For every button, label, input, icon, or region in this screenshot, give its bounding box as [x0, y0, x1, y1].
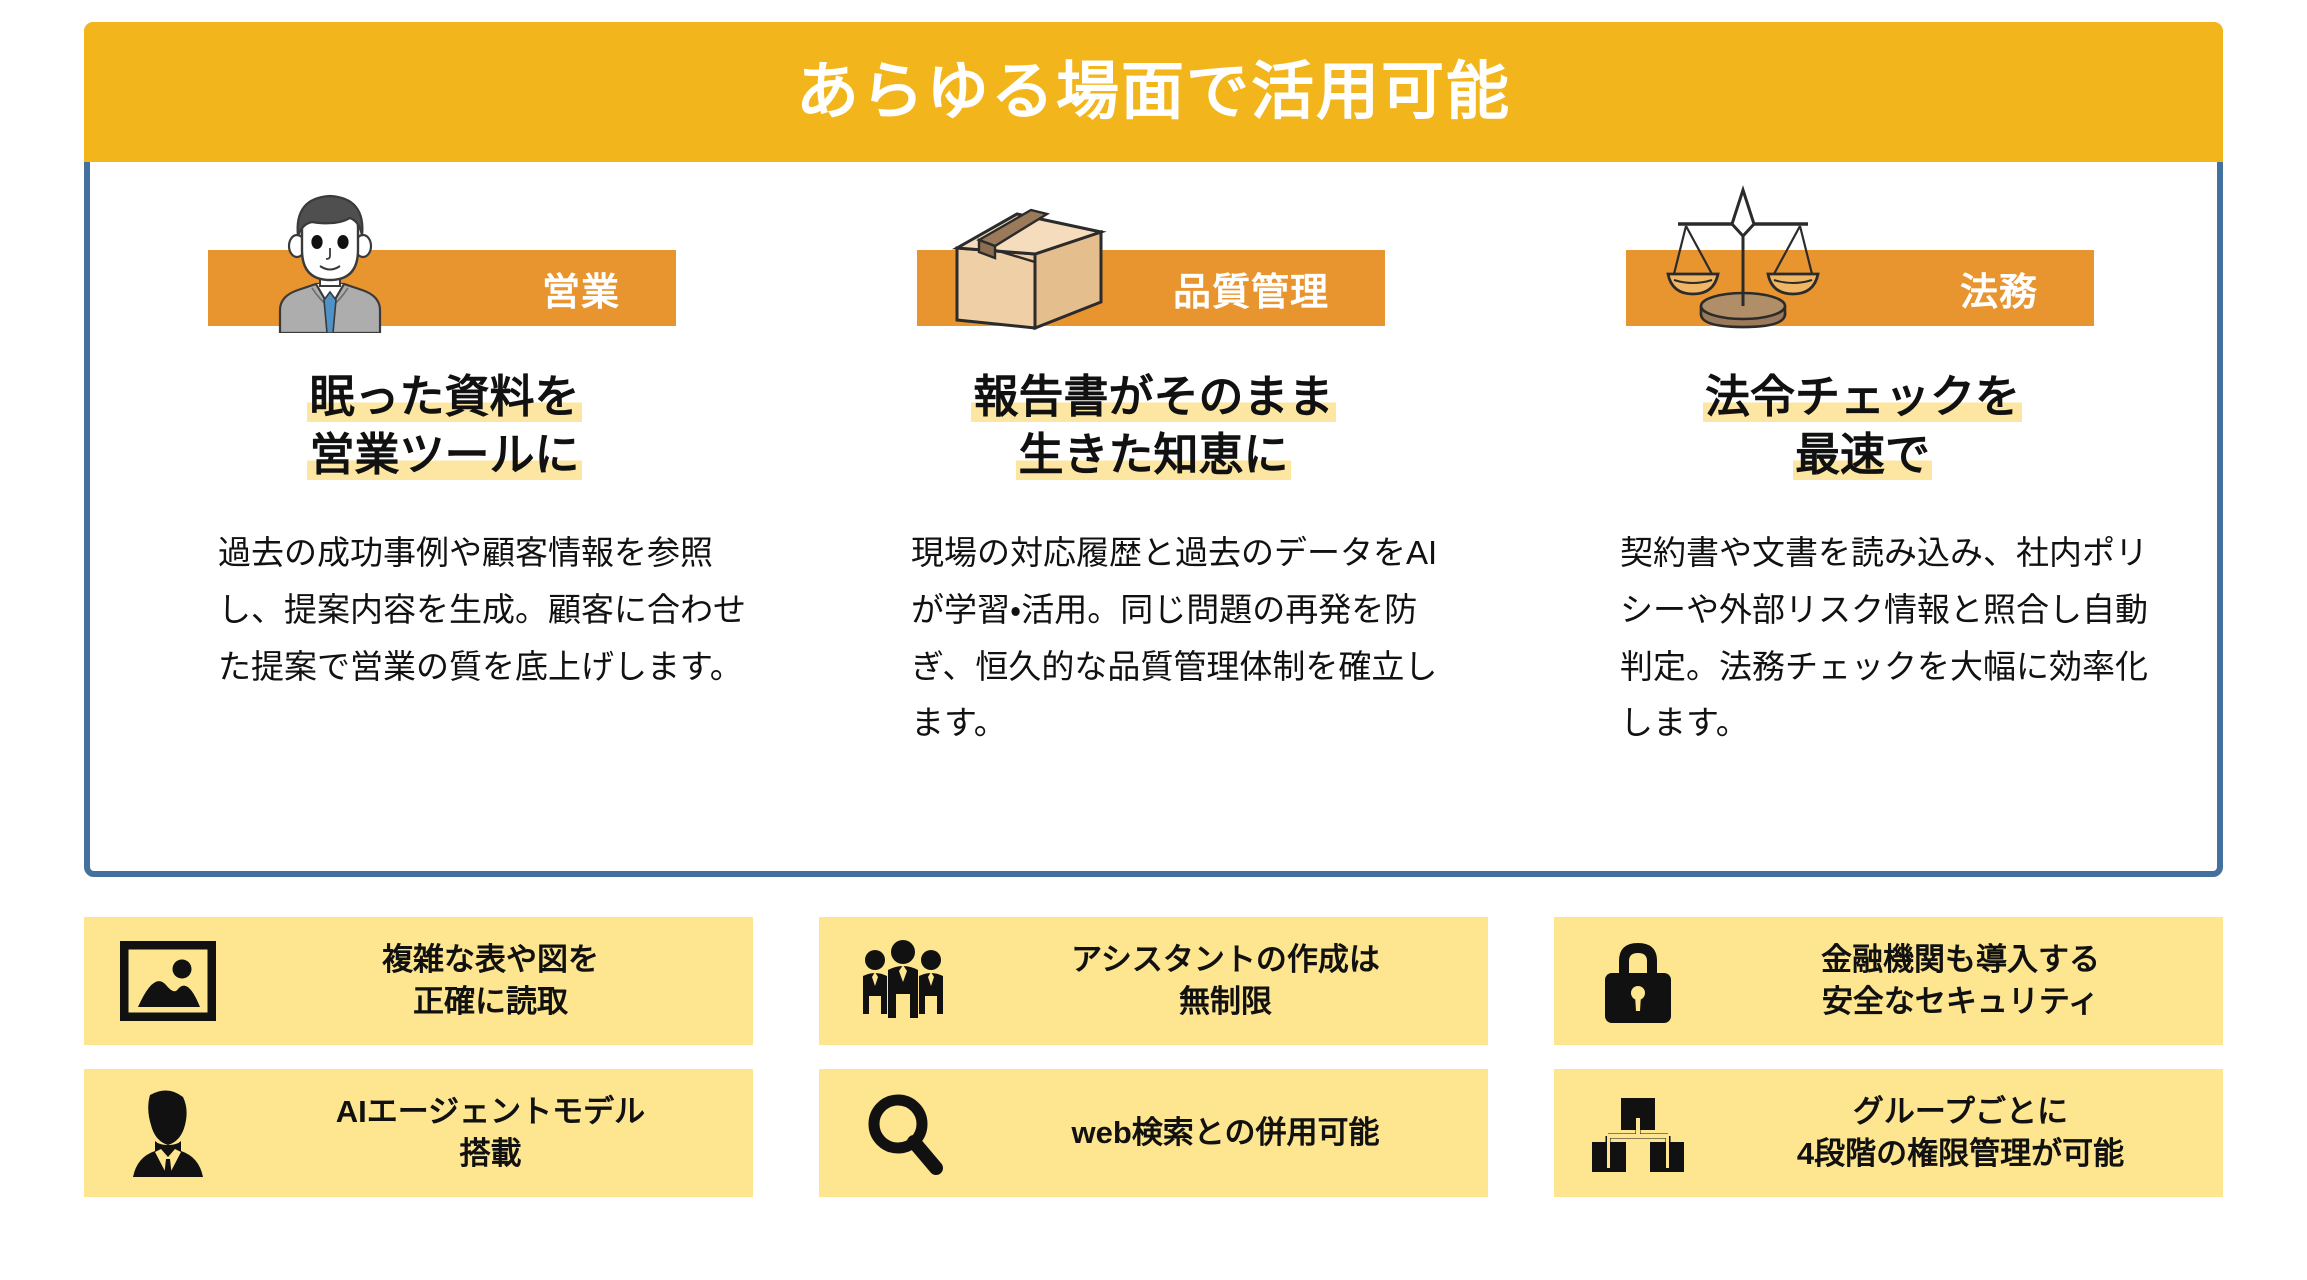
badge-label: 複雑な表や図を 正確に読取: [252, 939, 753, 1022]
padlock-icon: [1554, 931, 1722, 1031]
headline-line-2: 生きた知恵に: [1016, 429, 1290, 480]
badge-unlimited-assistants: アシスタントの作成は 無制限: [819, 917, 1488, 1045]
badge-line-1: AIエージェントモデル: [336, 1094, 645, 1129]
feature-badges: 複雑な表や図を 正確に読取 アシスタントの作成は: [84, 917, 2223, 1197]
badge-line-2: 4段階の権限管理が可能: [1722, 1133, 2199, 1175]
badge-line-1: グループごとに: [1853, 1094, 2068, 1129]
badge-image-reading: 複雑な表や図を 正確に読取: [84, 917, 753, 1045]
badge-line-1: アシスタントの作成は: [1071, 942, 1380, 977]
column-headline: 報告書がそのまま 生きた知恵に: [799, 368, 1508, 483]
cardboard-box-icon: [939, 202, 1119, 332]
badge-line-1: 金融機関も導入する: [1821, 942, 2100, 977]
badge-line-1: web検索との併用可能: [1072, 1115, 1380, 1150]
badge-line-1: 複雑な表や図を: [382, 942, 599, 977]
badge-label: グループごとに 4段階の権限管理が可能: [1722, 1091, 2223, 1174]
column-header-legal: 法務: [1508, 188, 2217, 328]
badge-line-2: 正確に読取: [252, 981, 729, 1023]
badge-ai-agent-model: AIエージェントモデル 搭載: [84, 1069, 753, 1197]
column-headline: 眠った資料を 営業ツールに: [90, 368, 799, 483]
image-picture-icon: [84, 931, 252, 1031]
column-body: 過去の成功事例や顧客情報を参照し、提案内容を生成。顧客に合わせた提案で営業の質を…: [90, 525, 799, 695]
badge-group-permissions: グループごとに 4段階の権限管理が可能: [1554, 1069, 2223, 1197]
badge-security: 金融機関も導入する 安全なセキュリティ: [1554, 917, 2223, 1045]
column-body: 契約書や文書を読み込み、社内ポリシーや外部リスク情報と照合し自動判定。法務チェッ…: [1508, 525, 2217, 752]
badge-label: AIエージェントモデル 搭載: [252, 1091, 753, 1174]
headline-line-1: 報告書がそのまま: [971, 371, 1335, 422]
person-silhouette-icon: [84, 1083, 252, 1183]
column-body: 現場の対応履歴と過去のデータをAIが学習・活用。同じ問題の再発を防ぎ、恒久的な品…: [799, 525, 1508, 752]
main-card: あらゆる場面で活用可能: [84, 22, 2223, 877]
badge-label: web検索との併用可能: [987, 1112, 1488, 1154]
column-sales: 営業 眠った資料を 営業ツールに 過去の成功事例や顧客情報を参照し、提案内容を生…: [90, 168, 799, 871]
column-quality-control: 品質管理 報告書がそのまま 生きた知恵に 現場の対応履歴と過去のデータをAIが学…: [799, 168, 1508, 871]
balance-scales-icon: [1658, 180, 1828, 332]
page-title: あらゆる場面で活用可能: [796, 61, 1511, 124]
column-legal: 法務 法令チェックを 最速で 契約書や文書を読み込み、社内ポリシーや外部リスク情…: [1508, 168, 2217, 871]
badge-line-2: 安全なセキュリティ: [1722, 981, 2199, 1023]
headline-line-2: 営業ツールに: [307, 429, 581, 480]
magnifier-search-icon: [819, 1083, 987, 1183]
businessman-icon: [250, 188, 410, 333]
headline-line-2: 最速で: [1793, 429, 1932, 480]
headline-line-1: 眠った資料を: [307, 371, 581, 422]
column-header-quality-control: 品質管理: [799, 188, 1508, 328]
column-header-sales: 営業: [90, 188, 799, 328]
group-people-icon: [819, 931, 987, 1031]
columns-container: 営業 眠った資料を 営業ツールに 過去の成功事例や顧客情報を参照し、提案内容を生…: [90, 168, 2217, 871]
headline-line-1: 法令チェックを: [1703, 371, 2022, 422]
badge-label: アシスタントの作成は 無制限: [987, 939, 1488, 1022]
title-bar: あらゆる場面で活用可能: [84, 22, 2223, 162]
badge-line-2: 搭載: [252, 1133, 729, 1175]
column-headline: 法令チェックを 最速で: [1508, 368, 2217, 483]
badge-label: 金融機関も導入する 安全なセキュリティ: [1722, 939, 2223, 1022]
badge-web-search: web検索との併用可能: [819, 1069, 1488, 1197]
hierarchy-org-icon: [1554, 1083, 1722, 1183]
badge-line-2: 無制限: [987, 981, 1464, 1023]
